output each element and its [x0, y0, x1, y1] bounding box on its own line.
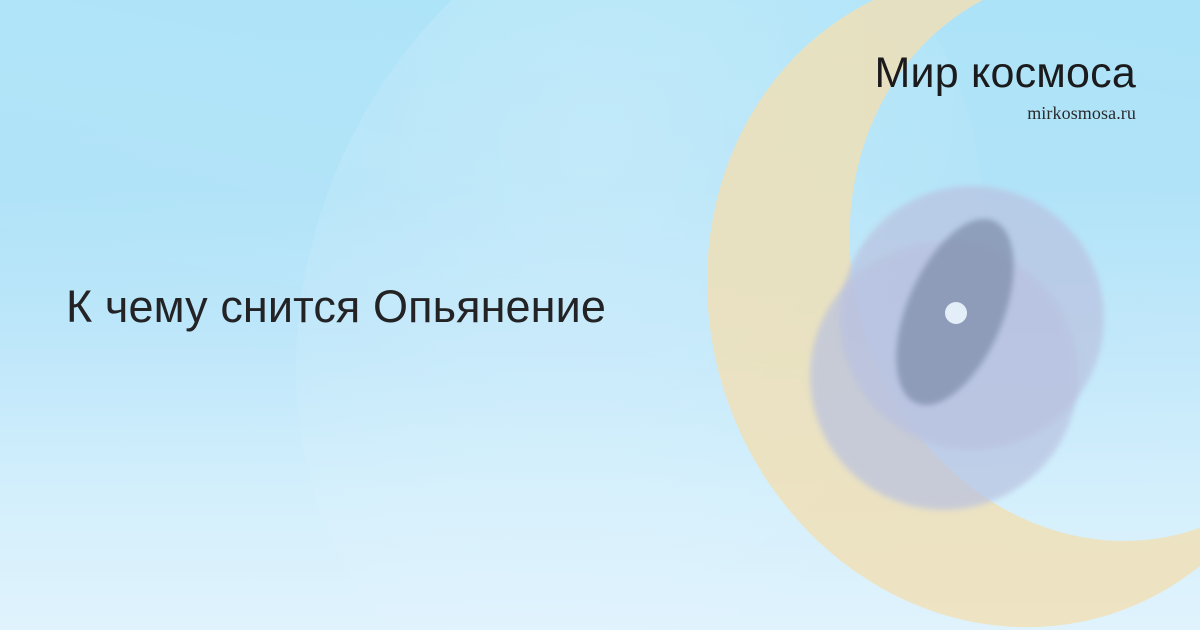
- site-logo-domain: mirkosmosa.ru: [874, 104, 1136, 122]
- site-logo-title: Мир космоса: [874, 52, 1136, 95]
- lower-circle-shape: [810, 242, 1078, 510]
- site-logo[interactable]: Мир космоса mirkosmosa.ru: [874, 52, 1136, 122]
- og-banner: Мир космоса mirkosmosa.ru К чему снится …: [0, 0, 1200, 630]
- page-title: К чему снится Опьянение: [66, 282, 606, 332]
- center-ellipse-shape: [872, 202, 1038, 422]
- upper-circle-shape: [840, 186, 1104, 450]
- center-dot-shape: [945, 302, 967, 324]
